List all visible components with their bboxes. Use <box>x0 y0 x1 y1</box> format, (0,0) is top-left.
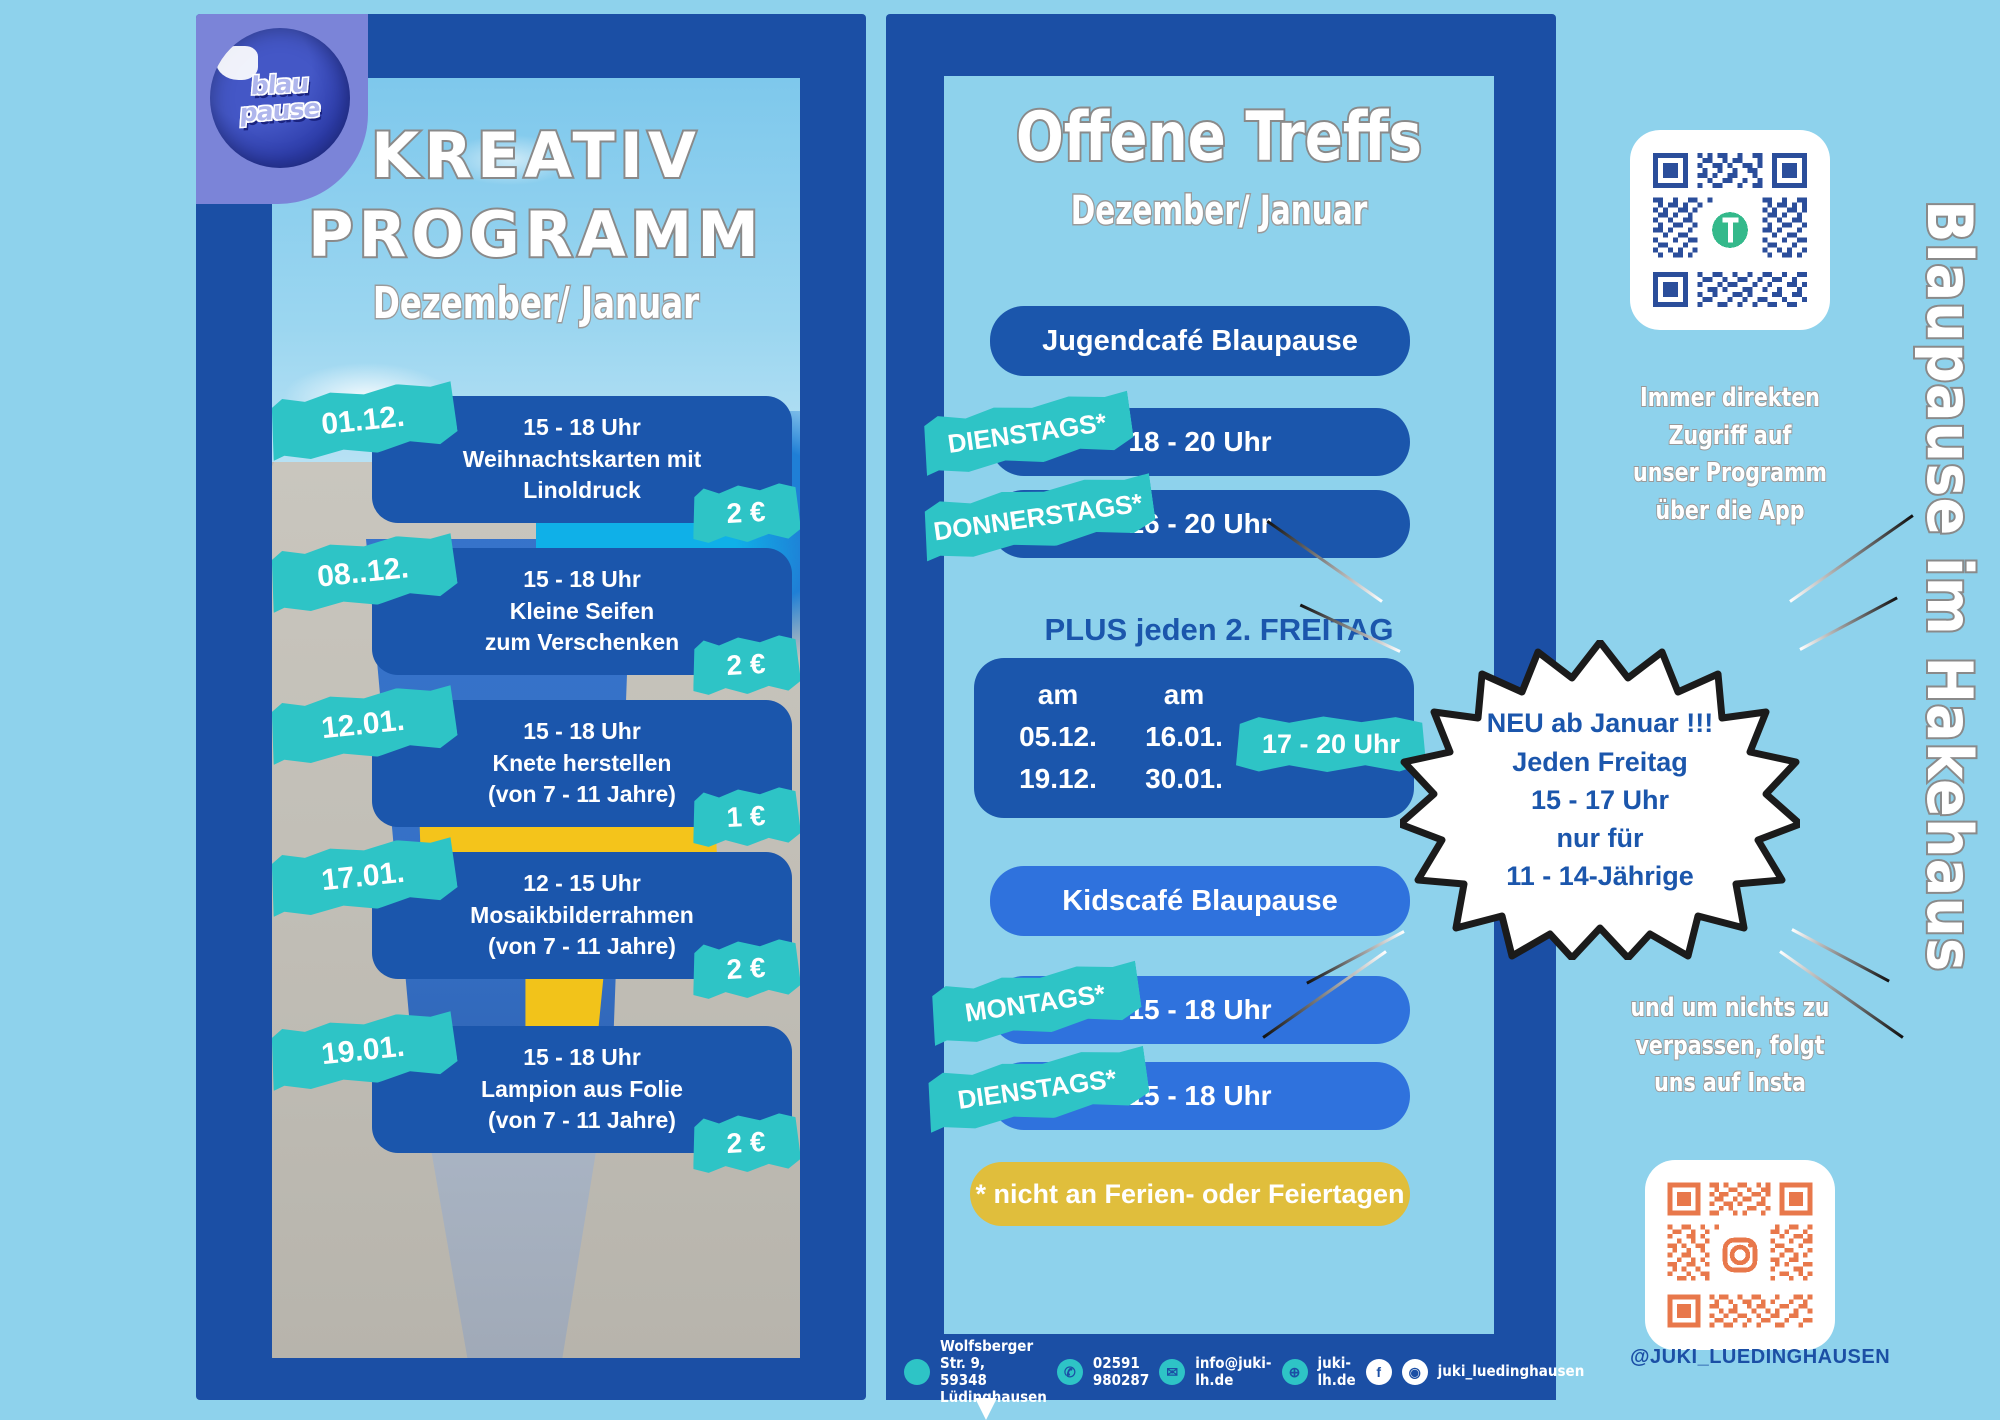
freitag-col1-label: am <box>998 674 1118 716</box>
logo-line-2: pause <box>239 96 321 125</box>
freitag-col1-date1: 05.12. <box>998 716 1118 758</box>
event-title-line1: Knete herstellen <box>398 748 766 780</box>
event-title-line1: Kleine Seifen <box>398 596 766 628</box>
logo-bubble-shape: blau pause <box>196 14 368 204</box>
kreativ-programm-panel: KREATIV PROGRAMM Dezember/ Januar 15 - 1… <box>196 14 866 1400</box>
footer-website[interactable]: juki-lh.de <box>1318 1355 1356 1390</box>
footer-social[interactable]: juki_luedinghausen <box>1438 1363 1585 1380</box>
event-title-line1: Weihnachtskarten mit <box>398 444 766 476</box>
jugendcafe-header: Jugendcafé Blaupause <box>990 306 1410 376</box>
freitag-col1-date2: 19.12. <box>998 758 1118 800</box>
vertical-brand-title: Blaupause im Hakehaus <box>1913 200 1986 972</box>
logo-graffiti-text: blau pause <box>210 28 350 168</box>
envelope-icon: ✉ <box>1159 1359 1185 1385</box>
instagram-qr-code-card[interactable] <box>1645 1160 1835 1350</box>
facebook-icon[interactable]: f <box>1366 1359 1392 1385</box>
offene-treffs-subtitle: Dezember/ Januar <box>994 188 1445 234</box>
starburst-line-1: NEU ab Januar !!! <box>1487 704 1714 742</box>
location-pin-icon <box>904 1359 930 1385</box>
freitag-col2-label: am <box>1124 674 1244 716</box>
event-price-badge: 1 € <box>691 785 800 849</box>
plus-freitag-box: am 05.12. 19.12. am 16.01. 30.01. 17 - 2… <box>974 658 1414 818</box>
freitag-col2-date2: 30.01. <box>1124 758 1244 800</box>
instagram-qr-code-icon[interactable] <box>1663 1178 1817 1332</box>
instagram-handle: @JUKI_LUEDINGHAUSEN <box>1630 1346 1850 1369</box>
freitag-col2-date1: 16.01. <box>1124 716 1244 758</box>
footer-phone: 02591 980287 <box>1093 1355 1149 1390</box>
offene-treffs-title: Offene Treffs <box>966 98 1472 177</box>
kidscafe-header: Kidscafé Blaupause <box>990 866 1410 936</box>
plus-freitag-time-badge: 17 - 20 Uhr <box>1236 716 1426 772</box>
starburst-line-2: Jeden Freitag <box>1512 743 1688 781</box>
phone-icon: ✆ <box>1057 1359 1083 1385</box>
globe-icon: ⊕ <box>1282 1359 1308 1385</box>
event-price-badge: 2 € <box>691 1111 800 1175</box>
starburst-text: NEU ab Januar !!! Jeden Freitag 15 - 17 … <box>1400 640 1800 960</box>
kreativ-programm-poster: KREATIV PROGRAMM Dezember/ Januar 15 - 1… <box>272 78 800 1358</box>
freitag-column-jan: am 16.01. 30.01. <box>1124 674 1244 800</box>
kreativ-subtitle: Dezember/ Januar <box>320 278 753 329</box>
starburst-line-5: 11 - 14-Jährige <box>1506 857 1694 895</box>
app-note-text: Immer direkten Zugriff auf unser Program… <box>1616 380 1845 531</box>
insta-note-text: und um nichts zu verpassen, folgt uns au… <box>1616 990 1845 1103</box>
contact-footer: Wolfsberger Str. 9, 59348 Lüdinghausen ✆… <box>886 1344 1556 1400</box>
starburst-ray <box>1799 597 1898 651</box>
event-price-badge: 2 € <box>691 633 800 697</box>
app-qr-code-card[interactable] <box>1630 130 1830 330</box>
starburst-line-4: nur für <box>1557 819 1644 857</box>
event-title-line1: Lampion aus Folie <box>398 1074 766 1106</box>
instagram-icon[interactable]: ◉ <box>1402 1359 1428 1385</box>
event-title-line1: Mosaikbilderrahmen <box>398 900 766 932</box>
title-line-2: PROGRAMM <box>272 195 800 274</box>
freitag-column-dec: am 05.12. 19.12. <box>998 674 1118 800</box>
starburst-line-3: 15 - 17 Uhr <box>1531 781 1669 819</box>
event-price-badge: 2 € <box>691 937 800 1001</box>
starburst-ray <box>1791 928 1890 982</box>
event-price-badge: 2 € <box>691 481 800 545</box>
footer-pin-decoration <box>975 1398 997 1420</box>
app-qr-code-icon[interactable] <box>1648 148 1812 312</box>
neu-ab-januar-starburst: NEU ab Januar !!! Jeden Freitag 15 - 17 … <box>1400 640 1800 960</box>
blaupause-logo: blau pause <box>210 28 350 168</box>
footer-address: Wolfsberger Str. 9, 59348 Lüdinghausen <box>940 1338 1047 1407</box>
ferien-footnote: * nicht an Ferien- oder Feiertagen <box>970 1162 1410 1226</box>
footer-email[interactable]: info@juki-lh.de <box>1195 1355 1271 1390</box>
